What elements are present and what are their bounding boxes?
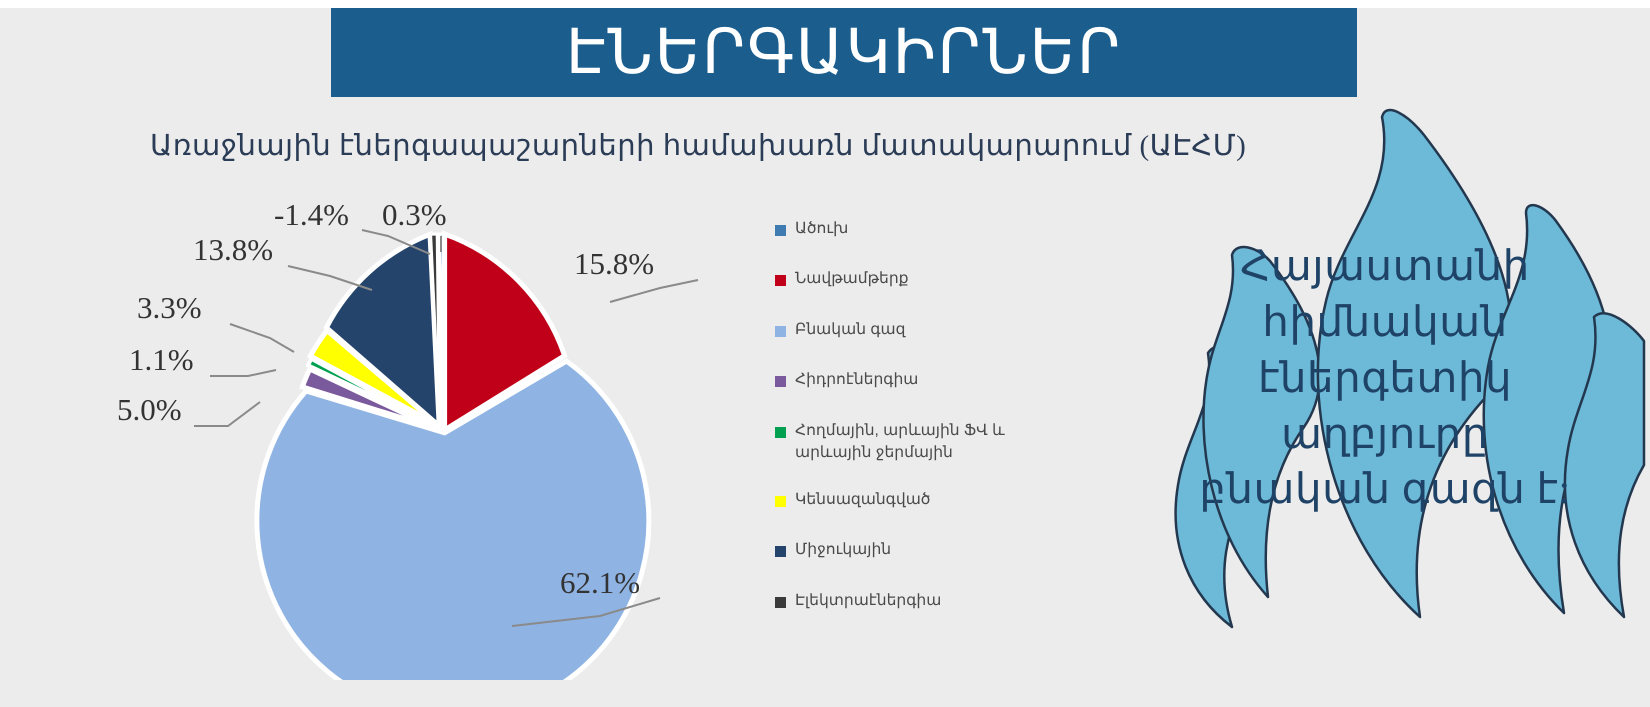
legend-item-mijukayin[interactable]: Միջուկային: [775, 539, 1065, 561]
legend-swatch-icon: [775, 376, 786, 387]
pie-label-neg-1-4: -1.4%: [274, 197, 349, 233]
leader-158: [610, 280, 698, 302]
flame-caption-line-5: բնական գազն է:: [1120, 463, 1650, 519]
legend-item-elektraenergia[interactable]: Էլեկտրաէներգիա: [775, 590, 1065, 612]
legend-item-label: Նավթամթերք: [795, 268, 909, 290]
chart-legend: Ածուխ Նավթամթերք Բնական գազ Հիդրոէներգիա…: [775, 218, 1065, 640]
flame-graphic-panel: Հայաստանի հիմնական էներգետիկ աղբյուրը բն…: [1120, 105, 1650, 665]
legend-item-bnakan-gaz[interactable]: Բնական գազ: [775, 319, 1065, 341]
pie-label-0-3: 0.3%: [382, 197, 447, 233]
pie-label-15-8: 15.8%: [574, 246, 654, 282]
legend-item-label: Հողմային, արևային ՖՎ և արևային ջերմային: [795, 420, 1065, 465]
leader-33: [230, 324, 294, 352]
pie-chart: -1.4% 0.3% 13.8% 3.3% 1.1% 5.0% 15.8% 62…: [120, 180, 740, 680]
legend-item-acuxh[interactable]: Ածուխ: [775, 218, 1065, 240]
leader-11: [210, 370, 276, 376]
legend-item-hoghmayin[interactable]: Հողմային, արևային ՖՎ և արևային ջերմային: [775, 420, 1065, 465]
legend-item-label: Բնական գազ: [795, 319, 905, 341]
legend-swatch-icon: [775, 597, 786, 608]
slide-canvas: ԷՆԵՐԳԱԿԻՐՆԵՐ Առաջնային էներգապաշարների հ…: [0, 0, 1650, 707]
legend-swatch-icon: [775, 496, 786, 507]
pie-label-13-8: 13.8%: [193, 232, 273, 268]
legend-swatch-icon: [775, 225, 786, 236]
chart-subtitle: Առաջնային էներգապաշարների համախառն մատակ…: [150, 128, 1246, 163]
pie-label-3-3: 3.3%: [137, 290, 202, 326]
legend-item-hidroenergia[interactable]: Հիդրոէներգիա: [775, 369, 1065, 391]
legend-item-navtamterq[interactable]: Նավթամթերք: [775, 268, 1065, 290]
flame-caption: Հայաստանի հիմնական էներգետիկ աղբյուրը բն…: [1120, 240, 1650, 519]
legend-item-label: Հիդրոէներգիա: [795, 369, 918, 391]
pie-label-1-1: 1.1%: [129, 342, 194, 378]
legend-item-label: Միջուկային: [795, 539, 891, 561]
pie-label-5-0: 5.0%: [117, 392, 182, 428]
legend-item-kensazangvac[interactable]: Կենսազանգված: [775, 489, 1065, 511]
legend-swatch-icon: [775, 326, 786, 337]
pie-label-62-1: 62.1%: [560, 565, 640, 601]
legend-swatch-icon: [775, 427, 786, 438]
legend-swatch-icon: [775, 275, 786, 286]
pie-slices: [257, 234, 649, 680]
flame-caption-line-1: Հայաստանի: [1120, 240, 1650, 296]
flame-caption-line-2: հիմնական: [1120, 296, 1650, 352]
leader-50: [194, 402, 260, 426]
legend-item-label: Կենսազանգված: [795, 489, 930, 511]
title-bar: ԷՆԵՐԳԱԿԻՐՆԵՐ: [331, 8, 1357, 97]
page-title: ԷՆԵՐԳԱԿԻՐՆԵՐ: [566, 22, 1122, 84]
legend-item-label: Ածուխ: [795, 218, 848, 240]
flame-caption-line-4: աղբյուրը: [1120, 408, 1650, 464]
legend-swatch-icon: [775, 546, 786, 557]
legend-item-label: Էլեկտրաէներգիա: [795, 590, 941, 612]
flame-caption-line-3: էներգետիկ: [1120, 352, 1650, 408]
